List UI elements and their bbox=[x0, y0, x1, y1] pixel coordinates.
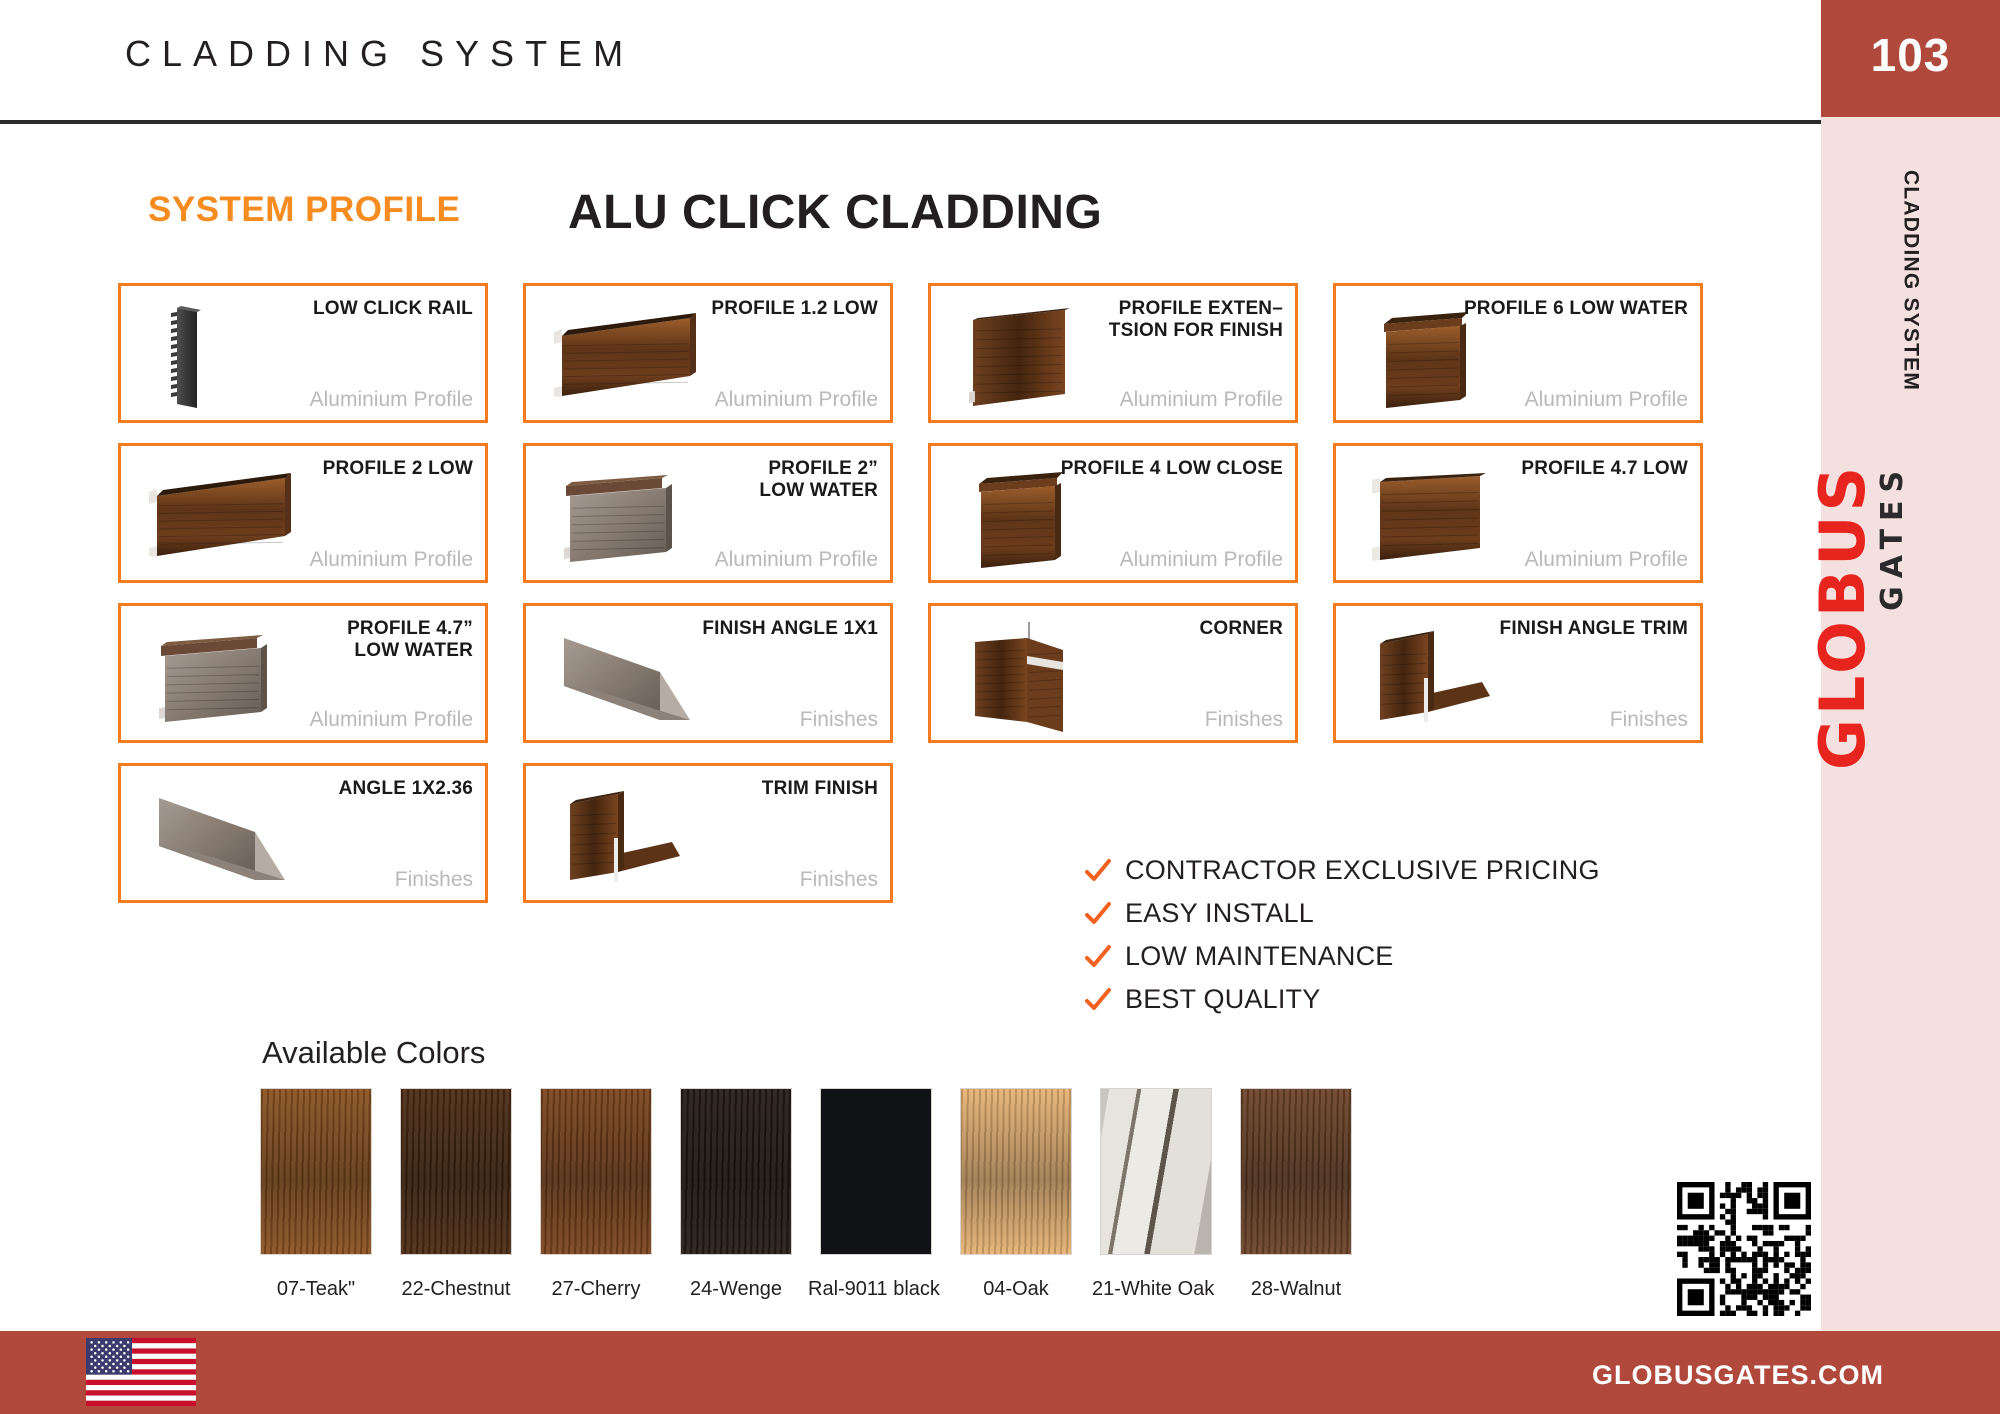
color-swatch-row: 07-Teak"22-Chestnut27-Cherry24-WengeRal-… bbox=[260, 1088, 1352, 1301]
color-swatch-chip bbox=[680, 1088, 792, 1255]
usa-flag-icon bbox=[86, 1338, 196, 1406]
checkmark-icon bbox=[1085, 901, 1111, 927]
product-figure bbox=[135, 456, 305, 576]
product-category: Finishes bbox=[800, 708, 878, 732]
color-swatch[interactable]: 24-Wenge bbox=[680, 1088, 792, 1301]
product-category: Aluminium Profile bbox=[715, 548, 878, 572]
color-swatch-chip bbox=[260, 1088, 372, 1255]
product-title: PROFILE 4 LOW CLOSE bbox=[1061, 458, 1283, 480]
product-card[interactable]: ANGLE 1X2.36Finishes bbox=[118, 763, 488, 903]
product-card[interactable]: CORNERFinishes bbox=[928, 603, 1298, 743]
feature-item: BEST QUALITY bbox=[1085, 984, 1600, 1015]
color-swatch-chip bbox=[820, 1088, 932, 1255]
logo-secondary-text: GATES bbox=[1875, 463, 1910, 770]
product-card[interactable]: PROFILE 4 LOW CLOSEAluminium Profile bbox=[928, 443, 1298, 583]
rail-section-label-text: CLADDING SYSTEM bbox=[1899, 170, 1923, 391]
product-card[interactable]: PROFILE 1.2 LOWAluminium Profile bbox=[523, 283, 893, 423]
color-swatch-label: 07-Teak" bbox=[260, 1278, 372, 1301]
color-swatch-label: 24-Wenge bbox=[680, 1278, 792, 1301]
color-swatch-label: 04-Oak bbox=[960, 1278, 1072, 1301]
page-number: 103 bbox=[1821, 28, 2000, 82]
color-swatch-label: 28-Walnut bbox=[1240, 1278, 1352, 1301]
product-category: Aluminium Profile bbox=[1525, 548, 1688, 572]
product-category: Aluminium Profile bbox=[1120, 388, 1283, 412]
product-figure bbox=[135, 296, 305, 416]
product-category: Aluminium Profile bbox=[715, 388, 878, 412]
color-swatch[interactable]: 22-Chestnut bbox=[400, 1088, 512, 1301]
color-swatch-label: Ral-9011 black bbox=[808, 1278, 932, 1301]
product-card[interactable]: PROFILE 2 LOWAluminium Profile bbox=[118, 443, 488, 583]
product-card[interactable]: FINISH ANGLE TRIMFinishes bbox=[1333, 603, 1703, 743]
product-category: Aluminium Profile bbox=[310, 388, 473, 412]
checkmark-icon bbox=[1085, 987, 1111, 1013]
product-figure bbox=[540, 296, 710, 416]
product-card-row: PROFILE 4.7”LOW WATERAluminium Profile F… bbox=[118, 603, 1718, 743]
header-divider bbox=[0, 120, 1821, 124]
product-title: FINISH ANGLE TRIM bbox=[1500, 618, 1688, 640]
logo-primary-text: GLOBUS bbox=[1806, 463, 1879, 770]
product-title: LOW CLICK RAIL bbox=[313, 298, 473, 320]
color-swatch-label: 27-Cherry bbox=[540, 1278, 652, 1301]
product-category: Finishes bbox=[395, 868, 473, 892]
product-card[interactable]: PROFILE 6 LOW WATERAluminium Profile bbox=[1333, 283, 1703, 423]
color-swatch-chip bbox=[960, 1088, 1072, 1255]
color-swatch[interactable]: 27-Cherry bbox=[540, 1088, 652, 1301]
rail-section-label: CLADDING SYSTEM bbox=[1821, 170, 2000, 470]
color-swatch[interactable]: 04-Oak bbox=[960, 1088, 1072, 1301]
feature-label: BEST QUALITY bbox=[1125, 984, 1320, 1015]
color-swatch[interactable]: 21-White Oak bbox=[1100, 1088, 1212, 1301]
product-category: Aluminium Profile bbox=[1120, 548, 1283, 572]
catalog-page: CLADDING SYSTEM 103 CLADDING SYSTEM SYST… bbox=[0, 0, 2000, 1414]
product-card[interactable]: LOW CLICK RAILAluminium Profile bbox=[118, 283, 488, 423]
product-title: PROFILE 6 LOW WATER bbox=[1464, 298, 1688, 320]
product-figure bbox=[945, 616, 1115, 736]
system-title: ALU CLICK CLADDING bbox=[568, 185, 1102, 240]
feature-item: CONTRACTOR EXCLUSIVE PRICING bbox=[1085, 855, 1600, 886]
product-category: Aluminium Profile bbox=[310, 548, 473, 572]
product-category: Aluminium Profile bbox=[310, 708, 473, 732]
feature-label: CONTRACTOR EXCLUSIVE PRICING bbox=[1125, 855, 1600, 886]
color-swatch-label: 22-Chestnut bbox=[400, 1278, 512, 1301]
product-card[interactable]: TRIM FINISHFinishes bbox=[523, 763, 893, 903]
product-title: CORNER bbox=[1199, 618, 1283, 640]
color-swatch[interactable]: 28-Walnut bbox=[1240, 1088, 1352, 1301]
product-title: PROFILE 4.7”LOW WATER bbox=[347, 618, 473, 663]
color-swatch-chip bbox=[400, 1088, 512, 1255]
product-card[interactable]: FINISH ANGLE 1X1Finishes bbox=[523, 603, 893, 743]
color-swatch-chip bbox=[1100, 1088, 1212, 1255]
color-swatch[interactable]: Ral-9011 black bbox=[820, 1088, 932, 1301]
product-title: TRIM FINISH bbox=[762, 778, 878, 800]
product-category: Finishes bbox=[1610, 708, 1688, 732]
system-profile-eyebrow: SYSTEM PROFILE bbox=[148, 190, 460, 230]
product-figure bbox=[540, 616, 710, 736]
color-swatch-label: 21-White Oak bbox=[1092, 1278, 1212, 1301]
feature-item: LOW MAINTENANCE bbox=[1085, 941, 1600, 972]
product-title: FINISH ANGLE 1X1 bbox=[702, 618, 878, 640]
product-card[interactable]: PROFILE EXTEN–TSION FOR FINISHAluminium … bbox=[928, 283, 1298, 423]
page-title: CLADDING SYSTEM bbox=[125, 33, 634, 75]
product-category: Finishes bbox=[1205, 708, 1283, 732]
product-figure bbox=[540, 776, 710, 896]
product-card-row: LOW CLICK RAILAluminium Profile bbox=[118, 283, 1718, 423]
product-category: Finishes bbox=[800, 868, 878, 892]
checkmark-icon bbox=[1085, 858, 1111, 884]
product-title: PROFILE 1.2 LOW bbox=[711, 298, 878, 320]
product-card[interactable]: PROFILE 2”LOW WATERAluminium Profile bbox=[523, 443, 893, 583]
product-title: PROFILE 2 LOW bbox=[323, 458, 473, 480]
feature-list: CONTRACTOR EXCLUSIVE PRICINGEASY INSTALL… bbox=[1085, 855, 1600, 1027]
checkmark-icon bbox=[1085, 944, 1111, 970]
color-swatch-chip bbox=[1240, 1088, 1352, 1255]
available-colors-heading: Available Colors bbox=[262, 1035, 485, 1071]
product-card-grid: LOW CLICK RAILAluminium Profile bbox=[118, 283, 1718, 923]
product-card[interactable]: PROFILE 4.7 LOWAluminium Profile bbox=[1333, 443, 1703, 583]
product-figure bbox=[1350, 616, 1520, 736]
product-title: ANGLE 1X2.36 bbox=[339, 778, 473, 800]
product-title: PROFILE 2”LOW WATER bbox=[759, 458, 878, 503]
product-title: PROFILE 4.7 LOW bbox=[1521, 458, 1688, 480]
color-swatch[interactable]: 07-Teak" bbox=[260, 1088, 372, 1301]
product-figure bbox=[945, 296, 1115, 416]
feature-item: EASY INSTALL bbox=[1085, 898, 1600, 929]
product-category: Aluminium Profile bbox=[1525, 388, 1688, 412]
product-figure bbox=[1350, 456, 1520, 576]
qr-code-icon[interactable] bbox=[1672, 1182, 1816, 1316]
product-figure bbox=[135, 776, 305, 896]
product-figure bbox=[540, 456, 710, 576]
color-swatch-chip bbox=[540, 1088, 652, 1255]
footer-website-url[interactable]: GLOBUSGATES.COM bbox=[1592, 1360, 1884, 1391]
product-figure bbox=[135, 616, 305, 736]
feature-label: LOW MAINTENANCE bbox=[1125, 941, 1394, 972]
product-card-row: PROFILE 2 LOWAluminium Profile bbox=[118, 443, 1718, 583]
product-card[interactable]: PROFILE 4.7”LOW WATERAluminium Profile bbox=[118, 603, 488, 743]
product-title: PROFILE EXTEN–TSION FOR FINISH bbox=[1109, 298, 1283, 343]
feature-label: EASY INSTALL bbox=[1125, 898, 1314, 929]
